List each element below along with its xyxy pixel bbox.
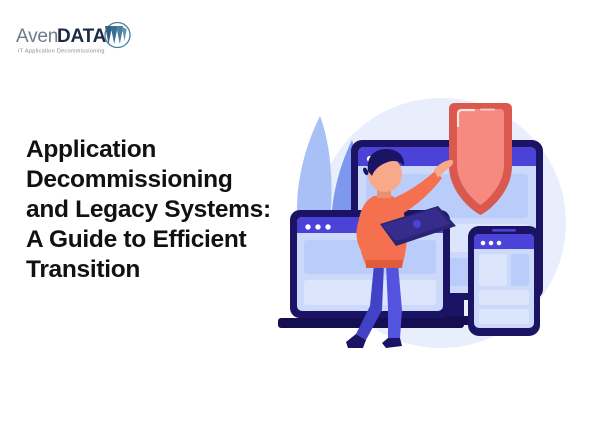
window-dot-icon: [481, 241, 486, 246]
logo-mark-icon: [105, 23, 130, 48]
window-dot-icon: [305, 224, 310, 229]
logo-name-light: Aven: [16, 26, 58, 47]
blog-banner: Aven DATA IT Application Decommissioning…: [0, 0, 612, 433]
smartphone-device: [468, 226, 540, 336]
window-dot-icon: [497, 241, 502, 246]
person-shoe-front: [382, 338, 402, 348]
logo-name-bold: DATA: [57, 26, 107, 47]
avendata-logo[interactable]: Aven DATA IT Application Decommissioning: [16, 20, 156, 58]
window-dot-icon: [325, 224, 330, 229]
page-title: Application Decommissioning and Legacy S…: [26, 135, 278, 285]
window-dot-icon: [489, 241, 494, 246]
hero-illustration: [278, 78, 608, 353]
logo-tagline: IT Application Decommissioning: [18, 49, 105, 55]
window-dot-icon: [315, 224, 320, 229]
